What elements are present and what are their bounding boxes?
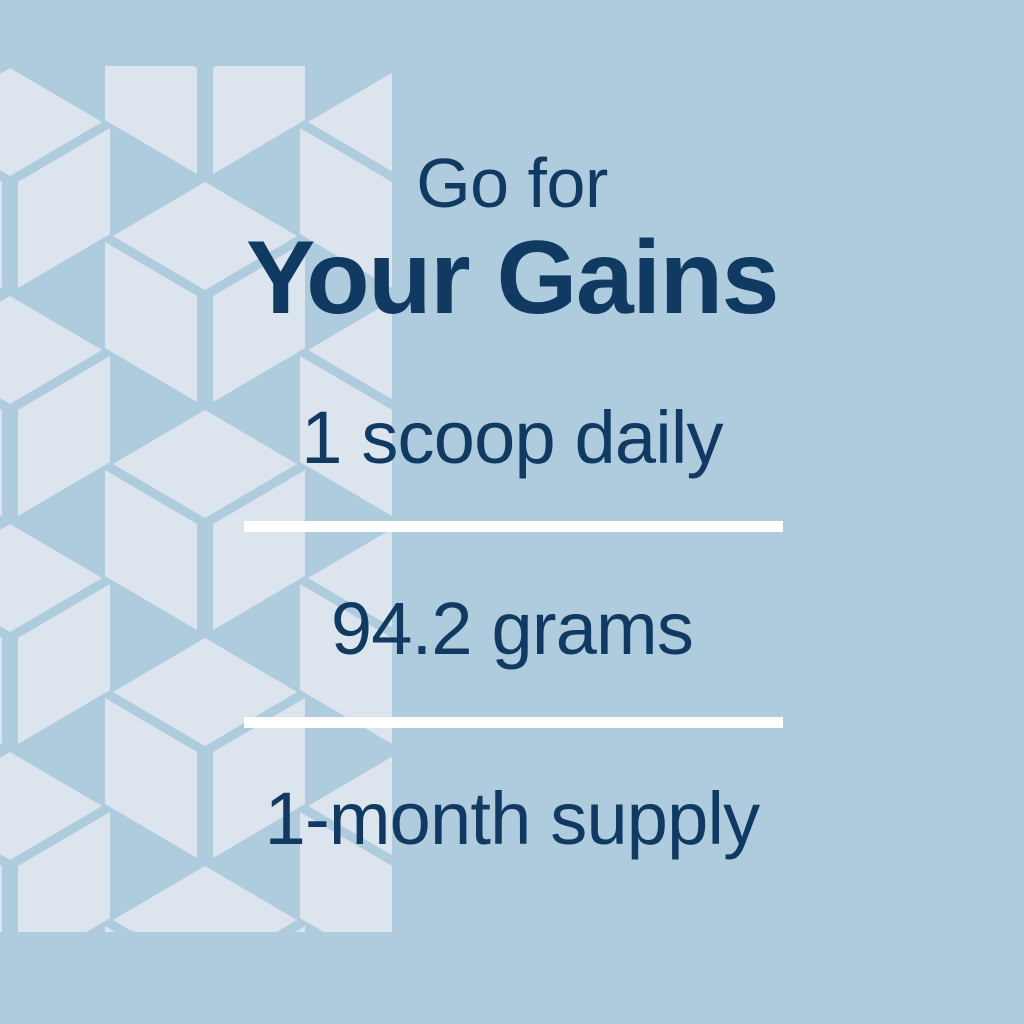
eyebrow-text: Go for [0, 146, 1024, 220]
promo-card: Go for Your Gains 1 scoop daily 94.2 gra… [0, 0, 1024, 1024]
page-title: Your Gains [0, 222, 1024, 334]
spec-item-supply: 1-month supply [0, 779, 1024, 859]
spec-divider [244, 521, 783, 532]
spec-divider [244, 717, 783, 728]
spec-item-weight: 94.2 grams [0, 589, 1024, 669]
spec-item-serving: 1 scoop daily [0, 398, 1024, 478]
